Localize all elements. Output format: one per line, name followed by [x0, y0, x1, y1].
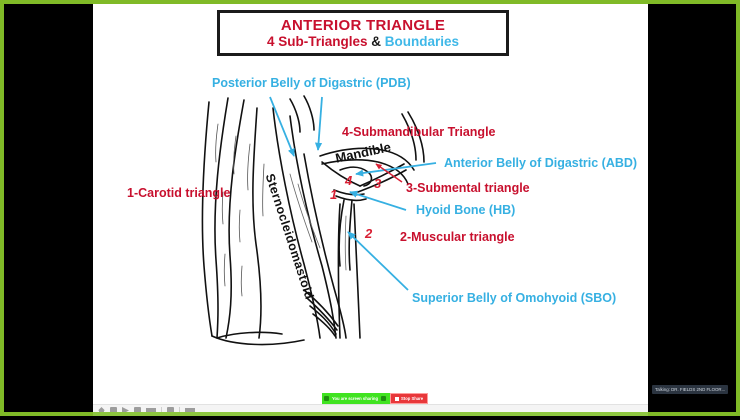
presentation-stage: ANTERIOR TRIANGLE 4 Sub-Triangles & Boun… [4, 4, 736, 412]
label-hyoid-bone: Hyoid Bone (HB) [416, 203, 515, 217]
options-icon[interactable] [381, 396, 386, 401]
page-title: ANTERIOR TRIANGLE [281, 17, 445, 34]
talking-indicator: Talking: DR. FIELDS 2ND FLOOR... [652, 385, 728, 394]
page-subtitle: 4 Sub-Triangles & Boundaries [267, 34, 459, 50]
label-muscular-triangle: 2-Muscular triangle [400, 230, 515, 244]
screen-icon [324, 396, 329, 401]
label-submandibular-triangle: 4-Submandibular Triangle [342, 125, 496, 139]
share-status-pill: You are screen sharing [322, 393, 390, 404]
share-highlight-strip [93, 412, 648, 416]
screen-share-toolbar[interactable]: You are screen sharing Stop Share [322, 393, 428, 404]
subtitle-count: 4 Sub-Triangles [267, 34, 368, 49]
subtitle-ampersand: & [371, 34, 381, 49]
label-anterior-belly-digastric: Anterior Belly of Digastric (ABD) [444, 156, 637, 170]
subtitle-boundaries: Boundaries [385, 34, 459, 49]
diagram-number-4: 4 [345, 173, 352, 188]
label-submental-triangle: 3-Submental triangle [406, 181, 530, 195]
label-posterior-belly-digastric: Posterior Belly of Digastric (PDB) [212, 76, 411, 90]
share-status-text: You are screen sharing [332, 396, 378, 401]
diagram-number-2: 2 [365, 226, 372, 241]
screen-share-frame: ANTERIOR TRIANGLE 4 Sub-Triangles & Boun… [0, 0, 740, 416]
diagram-number-3: 3 [374, 176, 381, 191]
talking-text: Talking: DR. FIELDS 2ND FLOOR... [655, 387, 725, 392]
diagram-number-1: 1 [330, 187, 337, 202]
slide-canvas: ANTERIOR TRIANGLE 4 Sub-Triangles & Boun… [93, 4, 648, 404]
stop-icon [395, 397, 399, 401]
stop-share-button[interactable]: Stop Share [390, 393, 428, 404]
label-carotid-triangle: 1-Carotid triangle [127, 186, 231, 200]
label-superior-belly-omohyoid: Superior Belly of Omohyoid (SBO) [412, 291, 616, 305]
slide-title-box: ANTERIOR TRIANGLE 4 Sub-Triangles & Boun… [217, 10, 509, 56]
stop-share-label: Stop Share [401, 396, 423, 401]
